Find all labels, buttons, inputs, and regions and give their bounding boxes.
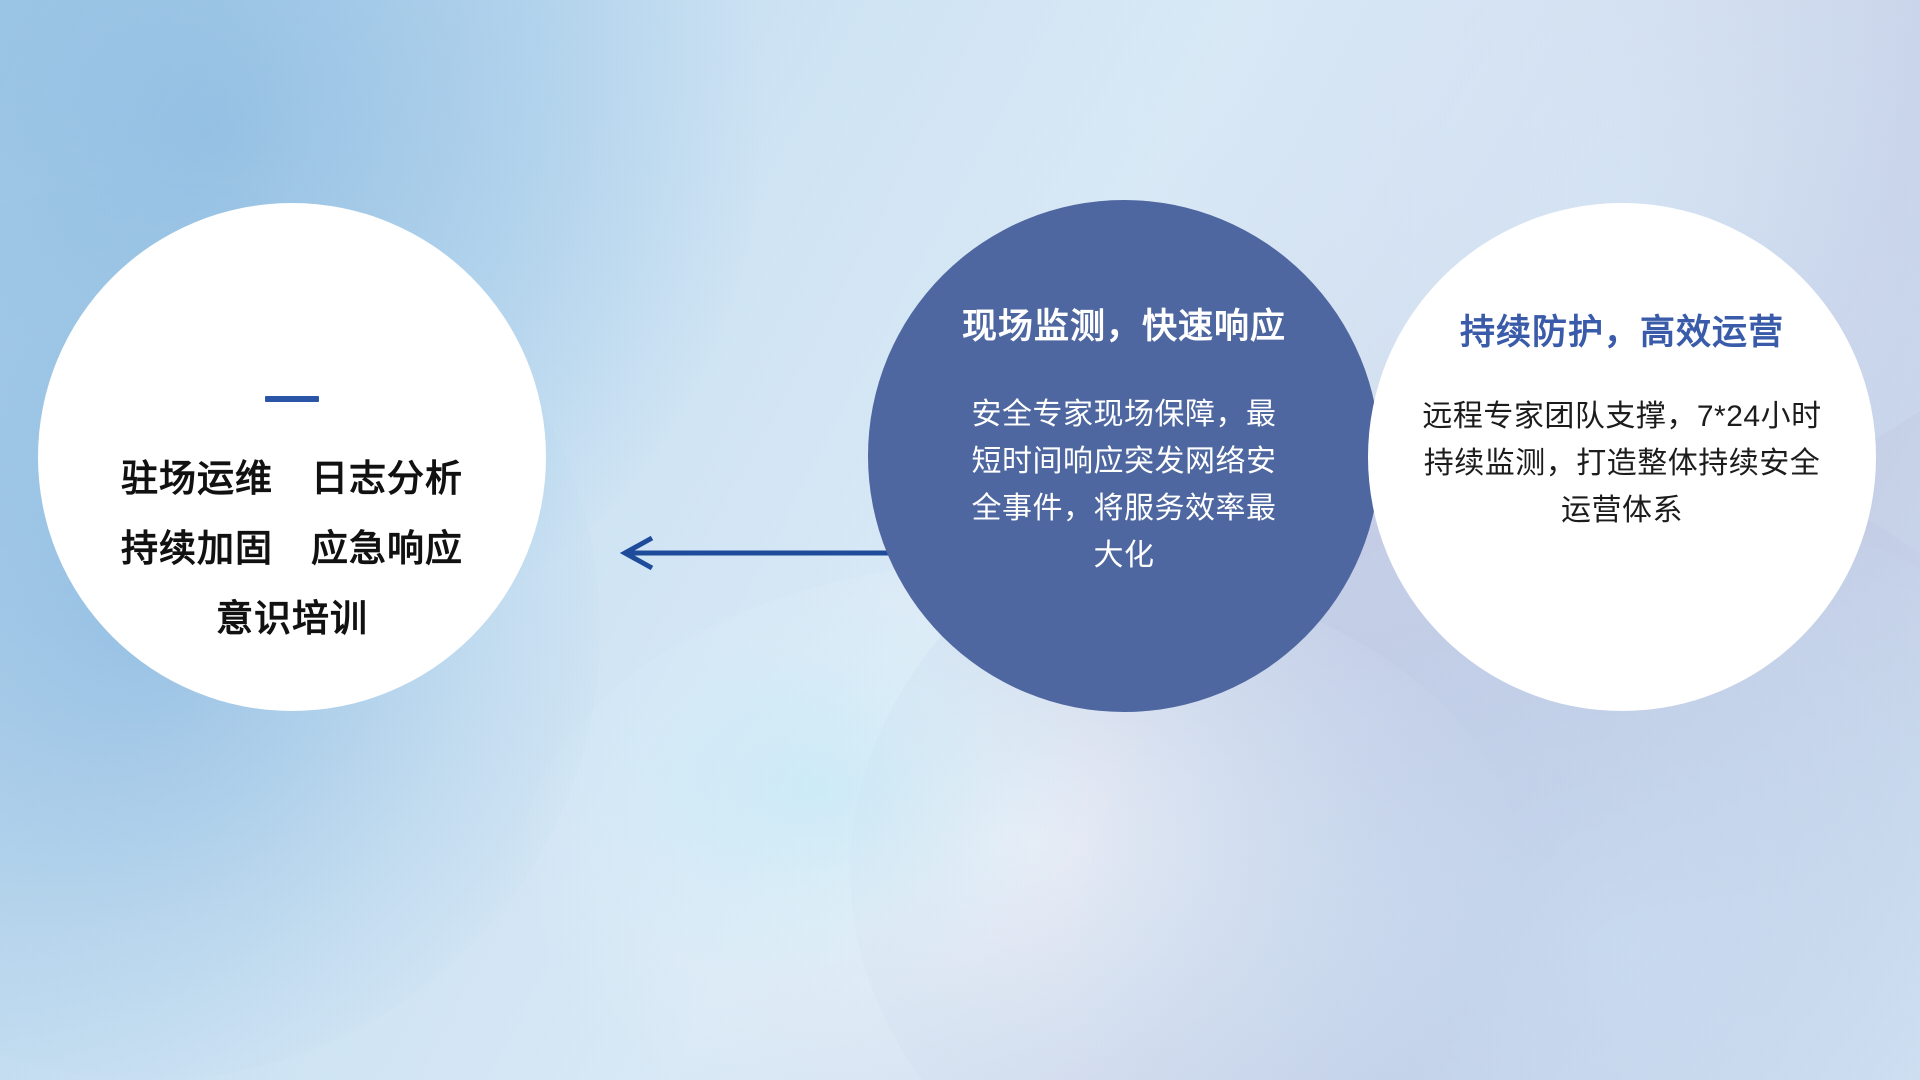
list-item: 意识培训 (121, 584, 463, 654)
arrow-left-icon (608, 525, 898, 581)
middle-circle-title: 现场监测，快速响应 (962, 298, 1286, 349)
right-circle-title: 持续防护，高效运营 (1460, 304, 1784, 355)
slide-canvas: 驻场运维 日志分析 持续加固 应急响应 意识培训 现场监测，快速响应 安全专家现… (0, 0, 1920, 1080)
right-circle-card[interactable]: 持续防护，高效运营 远程专家团队支撑，7*24小时持续监测，打造整体持续安全运营… (1368, 203, 1876, 711)
left-circle-card[interactable]: 驻场运维 日志分析 持续加固 应急响应 意识培训 (38, 203, 546, 711)
middle-circle-card[interactable]: 现场监测，快速响应 安全专家现场保障，最短时间响应突发网络安全事件，将服务效率最… (868, 200, 1380, 712)
right-circle-body: 远程专家团队支撑，7*24小时持续监测，打造整体持续安全运营体系 (1422, 393, 1822, 534)
service-keyword-list: 驻场运维 日志分析 持续加固 应急响应 意识培训 (121, 444, 463, 654)
list-item: 持续加固 应急响应 (121, 514, 463, 584)
middle-circle-body: 安全专家现场保障，最短时间响应突发网络安全事件，将服务效率最大化 (959, 391, 1289, 579)
divider-dash (265, 396, 319, 402)
list-item: 驻场运维 日志分析 (121, 444, 463, 514)
